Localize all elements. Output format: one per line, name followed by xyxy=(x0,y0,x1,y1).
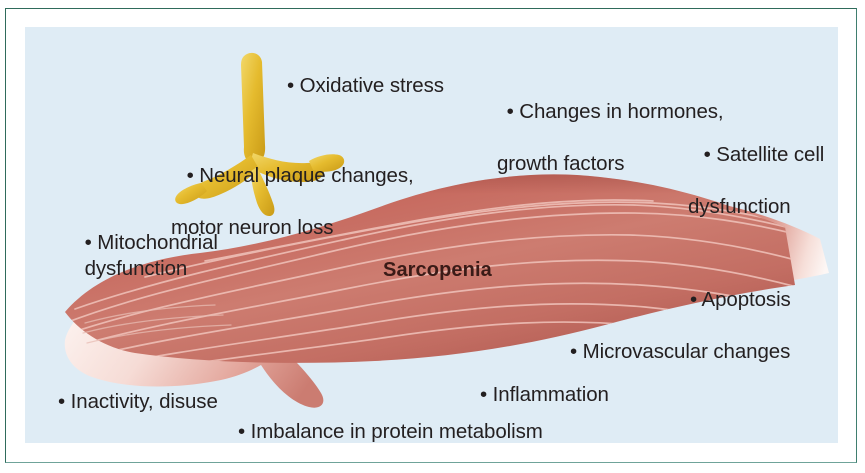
label-satellite-line1: • Satellite cell xyxy=(704,143,825,166)
figure-panel: • Oxidative stress • Changes in hormones… xyxy=(25,27,838,443)
label-apoptosis: • Apoptosis xyxy=(690,287,791,312)
label-satellite-cell-dysfunction: • Satellite cell dysfunction xyxy=(670,116,824,272)
label-sarcopenia: Sarcopenia xyxy=(383,259,492,282)
label-inactivity-disuse: • Inactivity, disuse xyxy=(58,389,218,414)
label-mitochondrial-line2: dysfunction xyxy=(85,257,188,280)
label-mitochondrial-dysfunction: • Mitochondrial dysfunction xyxy=(51,204,218,308)
label-neural-line1: • Neural plaque changes, xyxy=(187,164,414,187)
label-oxidative-stress: • Oxidative stress xyxy=(287,73,444,98)
label-mitochondrial-line1: • Mitochondrial xyxy=(85,231,218,254)
label-satellite-line2: dysfunction xyxy=(670,194,824,220)
sarcopenia-figure: • Oxidative stress • Changes in hormones… xyxy=(0,0,865,473)
label-inflammation: • Inflammation xyxy=(480,382,609,407)
label-microvascular-changes: • Microvascular changes xyxy=(570,339,790,364)
label-imbalance-protein-metabolism: • Imbalance in protein metabolism xyxy=(238,419,543,443)
